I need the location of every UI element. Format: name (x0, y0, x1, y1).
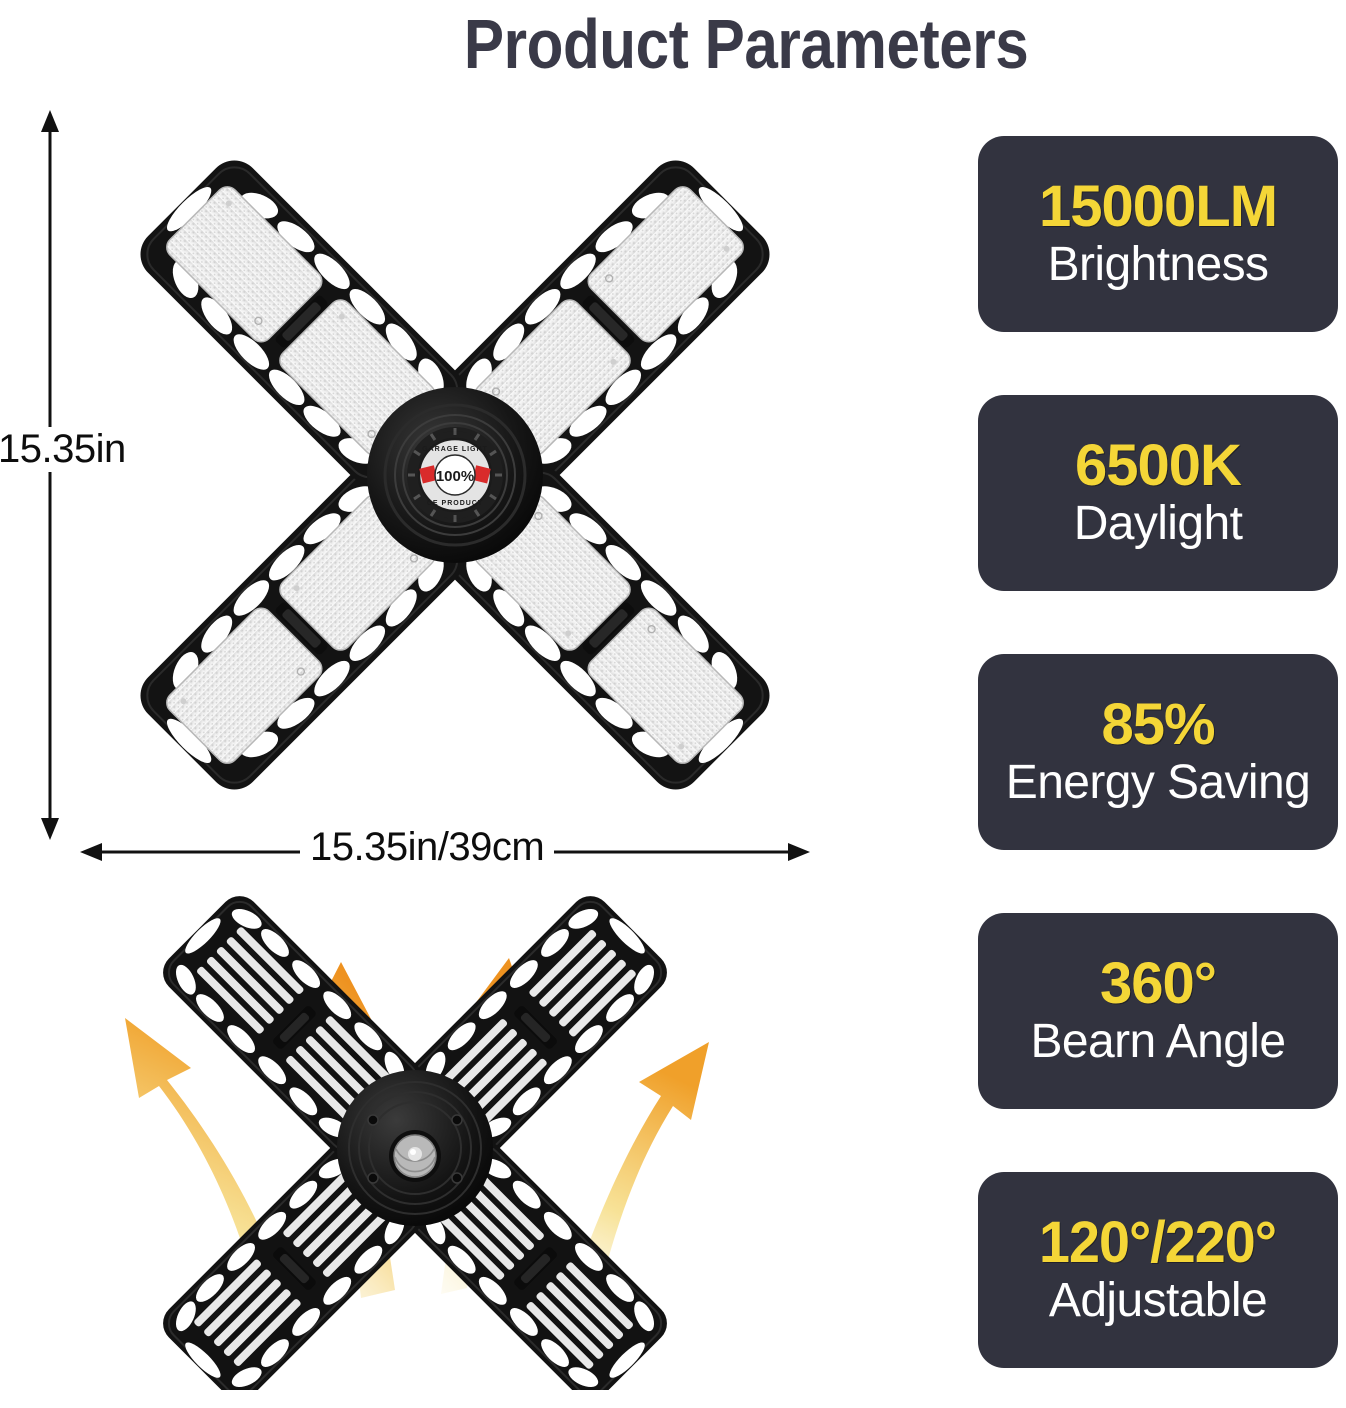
hub-badge: 100% GARAGE LIGHT CE PRODUCT (419, 431, 491, 519)
product-image-heat-dissipation-view (95, 890, 735, 1390)
parameter-card-beam-angle: 360° Bearn Angle (978, 913, 1338, 1109)
parameter-value: 85% (1101, 695, 1214, 754)
svg-text:CE PRODUCT: CE PRODUCT (427, 500, 483, 507)
parameter-value: 360° (1100, 954, 1216, 1013)
parameter-card-brightness: 15000LM Brightness (978, 136, 1338, 332)
parameter-card-list: 15000LM Brightness 6500K Daylight 85% En… (978, 136, 1338, 1368)
svg-text:100%: 100% (436, 468, 474, 485)
parameter-label: Energy Saving (1006, 756, 1310, 810)
parameter-card-energy-saving: 85% Energy Saving (978, 654, 1338, 850)
parameter-label: Bearn Angle (1031, 1015, 1286, 1069)
product-image-top-view: 100% GARAGE LIGHT CE PRODUCT (60, 105, 850, 845)
dimension-arrow-vertical (30, 110, 70, 840)
parameter-value: 120°/220° (1039, 1213, 1276, 1272)
page-title: Product Parameters (94, 4, 1252, 84)
parameter-value: 6500K (1075, 436, 1241, 495)
dimension-label-vertical: 15.35in (0, 427, 173, 472)
parameter-card-daylight: 6500K Daylight (978, 395, 1338, 591)
dimension-label-horizontal: 15.35in/39cm (300, 825, 554, 870)
parameter-value: 15000LM (1039, 177, 1277, 236)
svg-text:GARAGE LIGHT: GARAGE LIGHT (422, 446, 488, 453)
parameter-label: Adjustable (1049, 1274, 1267, 1328)
parameter-card-adjustable: 120°/220° Adjustable (978, 1172, 1338, 1368)
parameter-label: Daylight (1074, 497, 1243, 551)
parameter-label: Brightness (1048, 238, 1269, 292)
